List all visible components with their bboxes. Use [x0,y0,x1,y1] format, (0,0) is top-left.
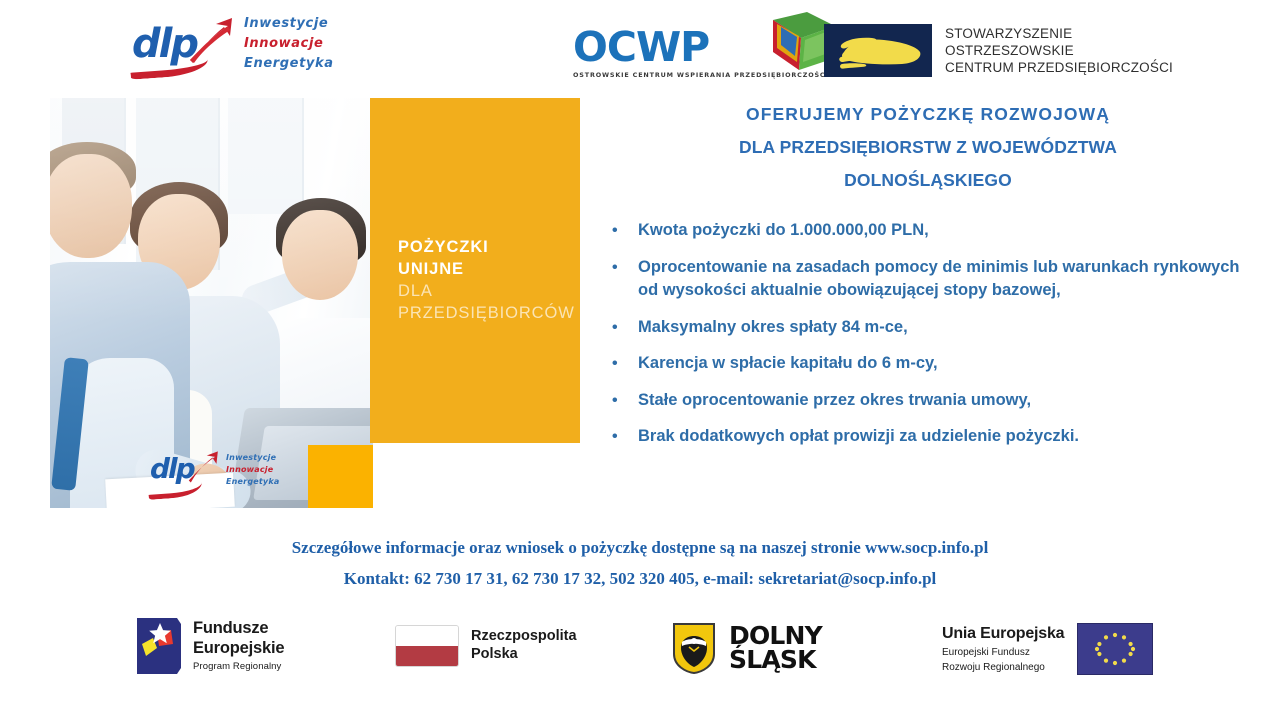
flag-red-band [396,646,458,666]
dolny-slask-line-2: ŚLĄSK [729,648,822,672]
red-arrow-icon [186,16,238,68]
list-item-text: Kwota pożyczki do 1.000.000,00 PLN, [638,219,1244,243]
panel-dlp-logo: dlp Inwestycje Innowacje Energetyka [148,450,279,490]
poland-flag-icon [395,625,459,667]
list-item-text: Brak dodatkowych opłat prowizji za udzie… [638,425,1244,449]
panel-text: POŻYCZKI UNIJNE DLA PRZEDSIĘBIORCÓW [398,236,575,324]
funding-logo-strip: Fundusze Europejskie Program Regionalny … [0,605,1280,695]
fundusze-europejskie-text: Fundusze Europejskie Program Regionalny [193,619,284,672]
dlp-word-2: Innowacje [244,34,334,54]
panel-dlp-words: Inwestycje Innowacje Energetyka [226,452,279,488]
helping-hand-icon [832,30,924,72]
headline-line-1: OFERUJEMY POŻYCZKĘ ROZWOJOWĄ [612,98,1244,131]
dlp-word-1: Inwestycje [244,14,334,34]
headline-line-3: DOLNOŚLĄSKIEGO [612,164,1244,197]
offer-content: OFERUJEMY POŻYCZKĘ ROZWOJOWĄ DLA PRZEDSI… [612,98,1244,462]
panel-dlp-mark: dlp [148,450,222,490]
ue-subtitle-1: Europejski Fundusz [942,647,1064,659]
panel-dlp-word-3: Energetyka [226,476,279,488]
person-right-head [282,210,358,300]
yellow-panel: POŻYCZKI UNIJNE DLA PRZEDSIĘBIORCÓW [370,98,580,443]
polska-line-1: Rzeczpospolita [471,628,577,646]
ocwp-logo: OCWP OSTROWSKIE CENTRUM WSPIERANIA PRZED… [573,26,829,79]
list-item: • Brak dodatkowych opłat prowizji za udz… [612,425,1244,449]
person-left-head [50,154,132,258]
unia-europejska-text: Unia Europejska Europejski Fundusz Rozwo… [942,624,1064,673]
left-visual: POŻYCZKI UNIJNE DLA PRZEDSIĘBIORCÓW dlp … [50,98,580,508]
eu-flag-icon [1077,623,1153,675]
panel-line-3: DLA [398,280,575,302]
dlp-logo-mark: dlp [130,16,238,72]
eu-stars-icon [1078,624,1152,674]
socp-line-2: OSTRZESZOWSKIE [945,42,1173,59]
bullet-marker-icon: • [612,219,638,243]
panel-line-1: POŻYCZKI [398,236,575,258]
yellow-accent-block [308,445,373,508]
dolny-slask-logo: DOLNY ŚLĄSK [672,622,822,674]
list-item: • Stałe oprocentowanie przez okres trwan… [612,389,1244,413]
dlp-word-3: Energetyka [244,54,334,74]
red-arrow-icon [186,450,222,486]
footer-contact-note: Szczegółowe informacje oraz wniosek o po… [0,532,1280,594]
dolny-slask-text: DOLNY ŚLĄSK [729,624,822,672]
window-pane [228,98,304,214]
panel-dlp-word-2: Innowacje [226,464,279,476]
ue-subtitle-2: Rozwoju Regionalnego [942,662,1064,674]
fe-subtitle: Program Regionalny [193,661,284,672]
header-logo-bar: dlp Inwestycje Innowacje Energetyka OCWP [0,0,1280,92]
polska-text: Rzeczpospolita Polska [471,628,577,663]
ocwp-tagline: OSTROWSKIE CENTRUM WSPIERANIA PRZEDSIĘBI… [573,71,829,79]
socp-logo: STOWARZYSZENIE OSTRZESZOWSKIE CENTRUM PR… [824,24,1173,77]
dlp-logo: dlp Inwestycje Innowacje Energetyka [130,14,334,74]
list-item-text: Stałe oprocentowanie przez okres trwania… [638,389,1244,413]
fundusze-europejskie-icon [137,618,181,674]
polska-line-2: Polska [471,646,577,664]
fe-title-line-1: Fundusze [193,619,284,638]
unia-europejska-logo: Unia Europejska Europejski Fundusz Rozwo… [942,623,1153,675]
fundusze-europejskie-logo: Fundusze Europejskie Program Regionalny [137,618,284,674]
socp-line-1: STOWARZYSZENIE [945,25,1173,42]
list-item: • Maksymalny okres spłaty 84 m-ce, [612,316,1244,340]
flag-white-band [396,626,458,646]
slide-root: dlp Inwestycje Innowacje Energetyka OCWP [0,0,1280,720]
bullet-marker-icon: • [612,389,638,413]
dlp-logo-words: Inwestycje Innowacje Energetyka [244,14,334,74]
bullet-marker-icon: • [612,352,638,376]
list-item: • Kwota pożyczki do 1.000.000,00 PLN, [612,219,1244,243]
socp-line-3: CENTRUM PRZEDSIĘBIORCZOŚCI [945,59,1173,76]
list-item: • Karencja w spłacie kapitału do 6 m-cy, [612,352,1244,376]
fe-title-line-2: Europejskie [193,639,284,658]
bullet-marker-icon: • [612,425,638,449]
headline-line-2: DLA PRZEDSIĘBIORSTW Z WOJEWÓDZTWA [612,131,1244,164]
list-item-text: Maksymalny okres spłaty 84 m-ce, [638,316,1244,340]
footer-line-1: Szczegółowe informacje oraz wniosek o po… [0,532,1280,563]
list-item-text: Oprocentowanie na zasadach pomocy de min… [638,256,1244,303]
rzeczpospolita-polska-logo: Rzeczpospolita Polska [395,625,577,667]
list-item-text: Karencja w spłacie kapitału do 6 m-cy, [638,352,1244,376]
ue-title: Unia Europejska [942,624,1064,643]
bullet-marker-icon: • [612,316,638,340]
list-item: • Oprocentowanie na zasadach pomocy de m… [612,256,1244,303]
panel-line-2: UNIJNE [398,258,575,280]
socp-badge [824,24,932,77]
panel-dlp-word-1: Inwestycje [226,452,279,464]
footer-line-2: Kontakt: 62 730 17 31, 62 730 17 32, 502… [0,563,1280,594]
offer-bullet-list: • Kwota pożyczki do 1.000.000,00 PLN, • … [612,219,1244,449]
socp-name-lines: STOWARZYSZENIE OSTRZESZOWSKIE CENTRUM PR… [945,25,1173,76]
panel-line-4: PRZEDSIĘBIORCÓW [398,302,575,324]
page-title: OFERUJEMY POŻYCZKĘ ROZWOJOWĄ DLA PRZEDSI… [612,98,1244,197]
bullet-marker-icon: • [612,256,638,280]
dolny-slask-coat-of-arms-icon [672,622,716,674]
